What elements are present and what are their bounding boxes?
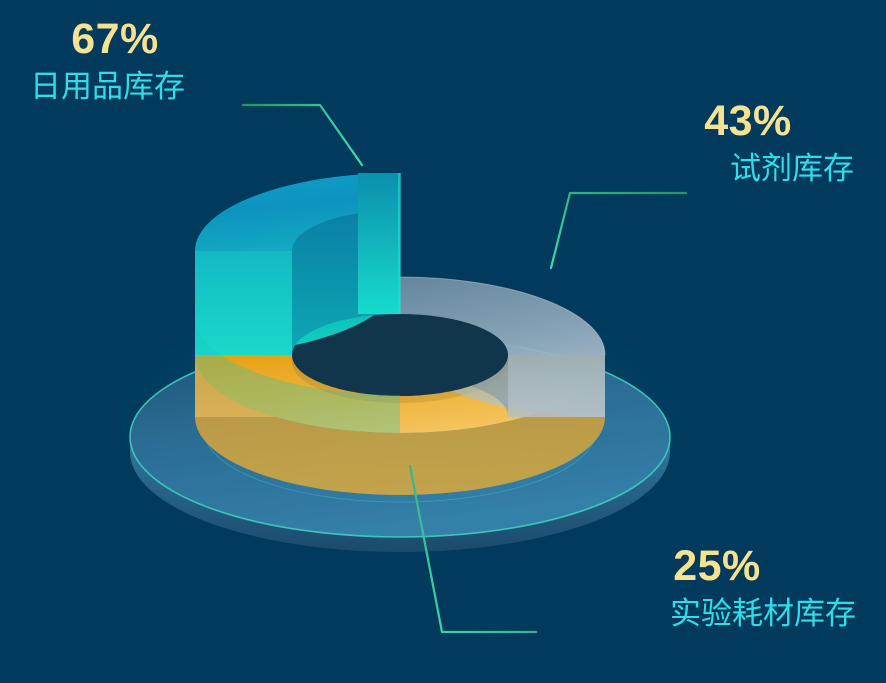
segment-daily-cut-back xyxy=(358,173,400,314)
infographic-stage: 67% 日用品库存 43% 试剂库存 25% 实验耗材库存 xyxy=(0,0,886,683)
callout-daily-percent: 67% xyxy=(30,18,200,61)
callout-reagent-percent: 43% xyxy=(642,100,854,143)
leader-line-reagent xyxy=(551,193,686,268)
callout-reagent-category: 试剂库存 xyxy=(642,153,854,184)
segment-daily-cut-front xyxy=(195,251,292,355)
callout-daily[interactable]: 67% 日用品库存 xyxy=(30,18,200,102)
segment-reagent-cut-front xyxy=(508,355,605,417)
callout-consumable-percent: 25% xyxy=(578,545,856,588)
callout-daily-category: 日用品库存 xyxy=(30,71,200,102)
callout-reagent[interactable]: 43% 试剂库存 xyxy=(642,100,854,184)
callout-consumable[interactable]: 25% 实验耗材库存 xyxy=(578,545,856,629)
callout-consumable-category: 实验耗材库存 xyxy=(578,598,856,629)
leader-line-daily xyxy=(243,105,362,165)
segment-daily-edge-highlight xyxy=(398,173,401,314)
